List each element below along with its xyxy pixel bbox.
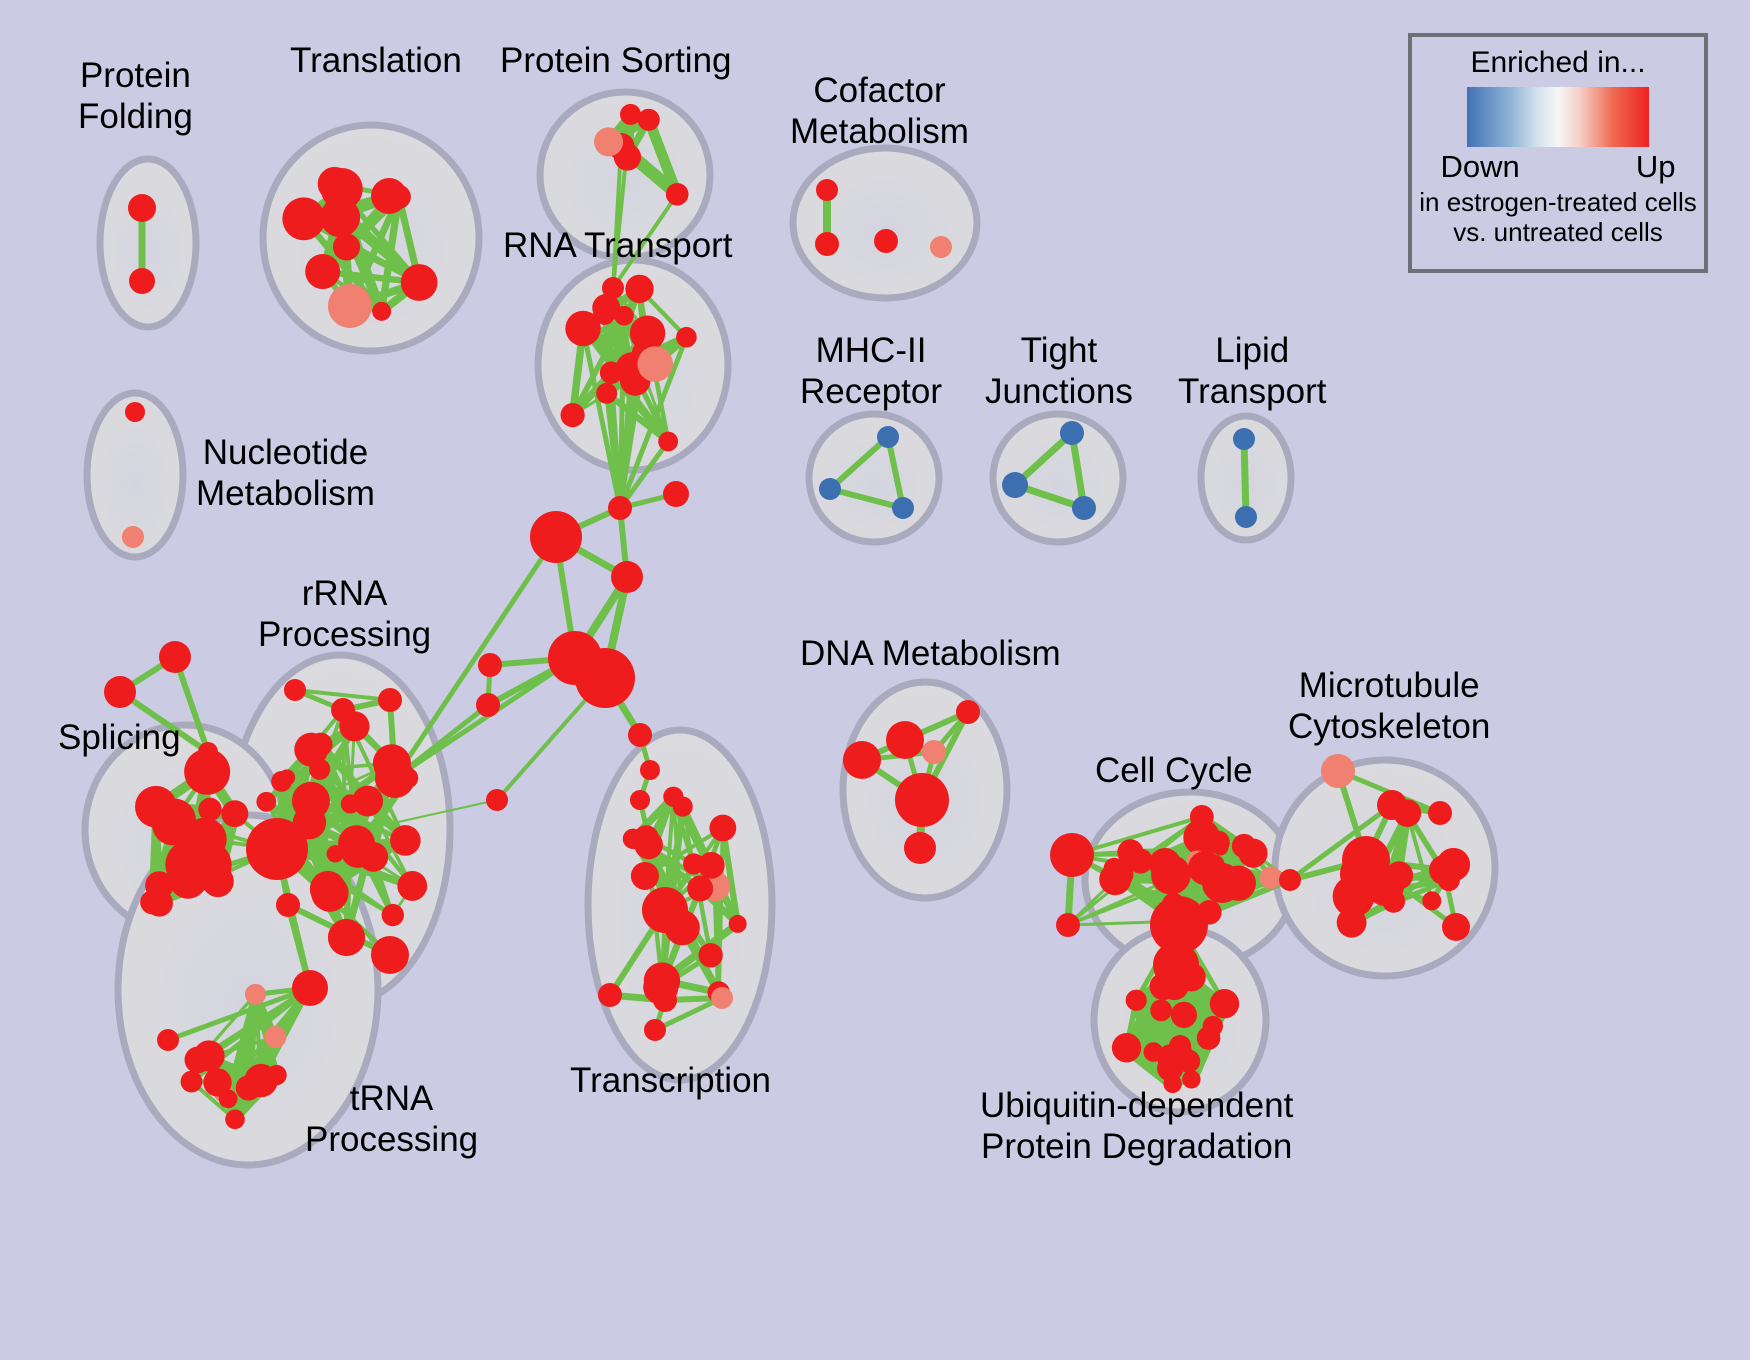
network-node[interactable]: [698, 943, 722, 967]
network-node[interactable]: [729, 915, 747, 933]
network-node[interactable]: [181, 1071, 203, 1093]
network-node[interactable]: [169, 860, 207, 898]
network-node[interactable]: [874, 229, 898, 253]
network-node[interactable]: [333, 233, 360, 260]
network-node[interactable]: [611, 561, 643, 593]
network-node[interactable]: [129, 268, 155, 294]
network-node[interactable]: [637, 346, 673, 382]
legend-down-label: Down: [1441, 149, 1520, 185]
network-node[interactable]: [246, 818, 308, 880]
network-node[interactable]: [530, 511, 582, 563]
network-node[interactable]: [331, 197, 352, 218]
network-node[interactable]: [594, 127, 623, 156]
network-node[interactable]: [930, 236, 952, 258]
network-node[interactable]: [371, 936, 409, 974]
network-node[interactable]: [1197, 1026, 1221, 1050]
legend-subtitle: in estrogen-treated cells vs. untreated …: [1419, 187, 1696, 247]
network-node[interactable]: [673, 796, 693, 816]
network-node[interactable]: [608, 496, 632, 520]
network-node[interactable]: [711, 987, 733, 1009]
network-node[interactable]: [628, 723, 652, 747]
network-node[interactable]: [687, 876, 713, 902]
network-node[interactable]: [128, 194, 156, 222]
network-node[interactable]: [1442, 913, 1470, 941]
network-node[interactable]: [1072, 496, 1096, 520]
legend-panel: Enriched in... Down Up in estrogen-treat…: [1408, 33, 1708, 273]
legend-colorbar: [1467, 87, 1649, 147]
network-node[interactable]: [145, 871, 173, 899]
network-node[interactable]: [221, 800, 248, 827]
network-node[interactable]: [640, 760, 660, 780]
network-node[interactable]: [219, 1089, 238, 1108]
network-node[interactable]: [1153, 942, 1199, 988]
network-node[interactable]: [292, 970, 328, 1006]
network-node[interactable]: [1150, 999, 1172, 1021]
network-node[interactable]: [328, 284, 372, 328]
network-node[interactable]: [638, 109, 660, 131]
network-node[interactable]: [486, 789, 508, 811]
legend-subtitle-line2: vs. untreated cells: [1453, 217, 1663, 247]
network-node[interactable]: [375, 758, 415, 798]
network-node[interactable]: [634, 831, 663, 860]
network-node[interactable]: [382, 904, 404, 926]
network-node[interactable]: [1112, 1033, 1141, 1062]
network-edge: [395, 537, 556, 778]
network-node[interactable]: [886, 721, 924, 759]
network-node[interactable]: [625, 275, 653, 303]
network-node[interactable]: [1210, 989, 1239, 1018]
network-node[interactable]: [1169, 1035, 1191, 1057]
network-node[interactable]: [245, 984, 266, 1005]
network-node[interactable]: [284, 679, 306, 701]
network-node[interactable]: [956, 700, 980, 724]
network-node[interactable]: [1002, 472, 1028, 498]
network-node[interactable]: [328, 919, 365, 956]
cluster-hull-cofactor-metabolism: [793, 148, 977, 298]
network-node[interactable]: [1235, 506, 1257, 528]
network-node[interactable]: [309, 759, 330, 780]
network-edge: [1244, 439, 1246, 517]
network-node[interactable]: [198, 742, 218, 762]
network-node[interactable]: [892, 497, 914, 519]
network-node[interactable]: [122, 526, 144, 548]
network-node[interactable]: [1233, 428, 1255, 450]
network-node[interactable]: [1060, 421, 1084, 445]
network-node[interactable]: [397, 871, 427, 901]
network-node[interactable]: [1260, 867, 1282, 889]
network-node[interactable]: [1182, 1070, 1200, 1088]
network-node[interactable]: [1279, 869, 1301, 891]
network-node[interactable]: [1183, 819, 1220, 856]
network-node[interactable]: [596, 383, 617, 404]
network-node[interactable]: [159, 641, 191, 673]
network-node[interactable]: [658, 432, 678, 452]
cluster-hull-mhc-ii-receptor: [809, 414, 939, 542]
network-node[interactable]: [922, 740, 946, 764]
network-node[interactable]: [843, 741, 881, 779]
network-node[interactable]: [198, 798, 221, 821]
network-node[interactable]: [1232, 834, 1256, 858]
network-node[interactable]: [1126, 990, 1147, 1011]
network-node[interactable]: [575, 648, 635, 708]
network-node[interactable]: [1163, 1075, 1181, 1093]
network-node[interactable]: [663, 481, 689, 507]
network-node[interactable]: [1377, 790, 1407, 820]
network-node[interactable]: [311, 874, 348, 911]
network-node[interactable]: [1171, 1002, 1197, 1028]
network-node[interactable]: [331, 698, 355, 722]
network-node[interactable]: [904, 832, 936, 864]
network-node[interactable]: [630, 790, 650, 810]
legend-up-label: Up: [1636, 149, 1676, 185]
network-node[interactable]: [815, 232, 839, 256]
network-node[interactable]: [309, 733, 333, 757]
network-node[interactable]: [1188, 851, 1222, 885]
network-node[interactable]: [401, 264, 438, 301]
network-node[interactable]: [390, 825, 421, 856]
network-node[interactable]: [676, 327, 697, 348]
network-node[interactable]: [819, 478, 841, 500]
network-node[interactable]: [478, 653, 502, 677]
network-node[interactable]: [125, 402, 145, 422]
network-node[interactable]: [1151, 855, 1191, 895]
legend-subtitle-line1: in estrogen-treated cells: [1419, 187, 1696, 217]
network-node[interactable]: [352, 786, 383, 817]
network-node[interactable]: [683, 853, 704, 874]
network-node[interactable]: [877, 426, 899, 448]
network-node[interactable]: [104, 676, 136, 708]
network-node[interactable]: [282, 197, 325, 240]
network-node[interactable]: [1422, 891, 1441, 910]
network-node[interactable]: [305, 254, 340, 289]
cluster-hull-protein-folding: [100, 159, 196, 327]
network-node[interactable]: [1337, 908, 1367, 938]
network-node[interactable]: [644, 1019, 666, 1041]
network-node[interactable]: [709, 815, 736, 842]
network-node[interactable]: [1104, 858, 1126, 880]
network-node[interactable]: [666, 183, 689, 206]
network-node[interactable]: [1144, 1042, 1164, 1062]
network-node[interactable]: [598, 983, 622, 1007]
network-node[interactable]: [1429, 855, 1459, 885]
network-node[interactable]: [157, 1029, 179, 1051]
network-node[interactable]: [264, 1026, 286, 1048]
network-node[interactable]: [372, 302, 391, 321]
network-node[interactable]: [135, 786, 177, 828]
network-node[interactable]: [279, 769, 295, 785]
network-node[interactable]: [816, 179, 838, 201]
network-node[interactable]: [653, 988, 677, 1012]
legend-title: Enriched in...: [1470, 46, 1645, 80]
network-node[interactable]: [602, 277, 624, 299]
network-node[interactable]: [244, 1064, 277, 1097]
network-node[interactable]: [1056, 913, 1080, 937]
network-figure: Protein FoldingTranslationProtein Sortin…: [0, 0, 1750, 1360]
network-node[interactable]: [256, 792, 276, 812]
network-node[interactable]: [371, 178, 407, 214]
network-node[interactable]: [631, 862, 659, 890]
network-node[interactable]: [1428, 801, 1452, 825]
network-node[interactable]: [1342, 836, 1390, 884]
network-node[interactable]: [185, 1046, 212, 1073]
network-node[interactable]: [642, 887, 688, 933]
network-node[interactable]: [1321, 754, 1355, 788]
network-node[interactable]: [476, 693, 500, 717]
network-node[interactable]: [341, 834, 375, 868]
network-node[interactable]: [276, 893, 300, 917]
network-node[interactable]: [202, 865, 234, 897]
network-node[interactable]: [378, 688, 402, 712]
network-node[interactable]: [895, 773, 949, 827]
network-node[interactable]: [561, 403, 585, 427]
network-node[interactable]: [225, 1110, 245, 1130]
network-node[interactable]: [1050, 833, 1094, 877]
